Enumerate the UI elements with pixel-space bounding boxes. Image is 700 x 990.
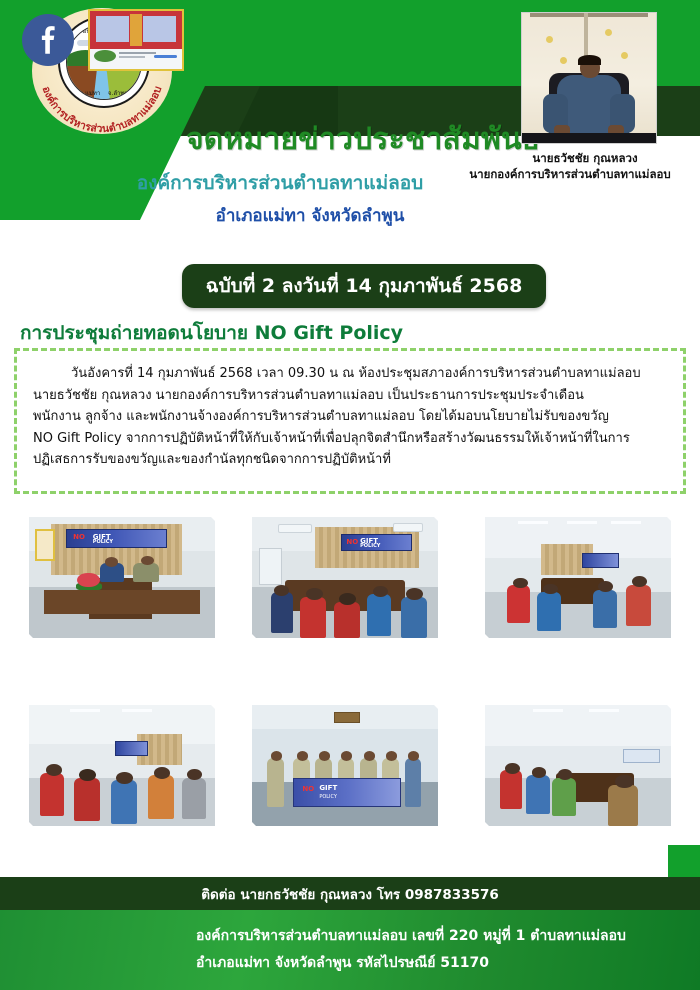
flower-arrangement bbox=[77, 573, 99, 588]
photo-image: NO GIFT POLICY bbox=[252, 517, 438, 638]
person-seated bbox=[271, 592, 293, 633]
header-subtitle-location: อำเภอแม่ทา จังหวัดลำพูน bbox=[0, 202, 620, 229]
person-head bbox=[141, 556, 154, 566]
footer-address-band bbox=[0, 910, 700, 990]
person-seated bbox=[507, 585, 529, 624]
footer-contact-bar: ติดต่อ นายกธวัชชัย กุณหลวง โทร 098783357… bbox=[0, 877, 700, 910]
room-doorway bbox=[259, 548, 281, 584]
portrait-person-hair bbox=[578, 55, 601, 65]
body-line-4: NO Gift Policy จากการปฏิบัติหน้าที่ให้กั… bbox=[33, 428, 667, 450]
person-head bbox=[513, 578, 528, 589]
banner-no-text: NO bbox=[73, 533, 85, 541]
person-head bbox=[408, 751, 419, 761]
photo-image bbox=[485, 705, 671, 826]
body-line-5: ปฏิเสธการรับของขวัญและของกำนัลทุกชนิดจาก… bbox=[33, 449, 667, 471]
person-seated bbox=[182, 778, 206, 819]
thumbnail-page-name-line bbox=[119, 52, 156, 54]
person-seated bbox=[526, 775, 550, 814]
executive-portrait-photo bbox=[521, 12, 657, 144]
logo-inner-left: อ.แม่ทา bbox=[80, 90, 101, 97]
ceiling-light bbox=[70, 709, 100, 713]
person-head bbox=[632, 576, 647, 587]
projector-screen bbox=[115, 741, 148, 756]
body-line-1: วันอังคารที่ 14 กุมภาพันธ์ 2568 เวลา 09.… bbox=[33, 363, 667, 385]
air-conditioner-icon bbox=[278, 524, 311, 532]
person-seated bbox=[552, 778, 576, 817]
thumbnail-banner-right bbox=[143, 16, 176, 43]
person-seated bbox=[608, 785, 638, 826]
gallery-photo[interactable] bbox=[478, 698, 678, 833]
person-seated bbox=[74, 778, 100, 822]
banner-no-text: NO bbox=[346, 538, 358, 546]
no-gift-policy-banner: NO GIFT POLICY bbox=[293, 778, 401, 807]
banner-no-text: NO bbox=[302, 785, 314, 793]
wall-poster bbox=[623, 749, 660, 764]
body-line-2: นายธวัชชัย กุณหลวง นายกองค์การบริหารส่วน… bbox=[33, 385, 667, 407]
room-table bbox=[44, 590, 200, 614]
person-head bbox=[341, 751, 352, 761]
ceiling-light bbox=[611, 521, 641, 525]
wall-plaque bbox=[334, 712, 360, 723]
facebook-page-thumbnail[interactable] bbox=[88, 9, 184, 71]
thumbnail-cover-image bbox=[90, 11, 182, 49]
person-seated bbox=[300, 597, 326, 638]
article-headline: การประชุมถ่ายทอดนโยบาย NO Gift Policy bbox=[20, 318, 403, 348]
gallery-photo[interactable]: NO GIFT POLICY bbox=[245, 510, 445, 645]
ceiling-light bbox=[122, 709, 152, 713]
thumbnail-follow-button[interactable] bbox=[154, 55, 178, 58]
person-seated bbox=[111, 780, 137, 824]
person-seated bbox=[500, 770, 522, 809]
thumbnail-profile-row bbox=[90, 49, 182, 69]
photo-image bbox=[29, 705, 215, 826]
gallery-photo[interactable] bbox=[478, 510, 678, 645]
person-head bbox=[116, 772, 133, 784]
portrait-foliage bbox=[605, 29, 612, 36]
person-standing bbox=[267, 758, 284, 806]
portrait-window-bar bbox=[530, 13, 648, 17]
photo-gallery: NO GIFT POLICY bbox=[0, 500, 700, 880]
banner-policy-text: POLICY bbox=[360, 543, 380, 549]
footer-contact-text: ติดต่อ นายกธวัชชัย กุณหลวง โทร 098783357… bbox=[0, 883, 700, 905]
royal-portrait-frame bbox=[35, 529, 55, 560]
air-conditioner-icon bbox=[393, 523, 423, 531]
no-gift-policy-banner: NO GIFT POLICY bbox=[341, 534, 412, 551]
projector-screen bbox=[582, 553, 619, 568]
photo-image: NO GIFT POLICY bbox=[29, 517, 215, 638]
person-head bbox=[386, 751, 397, 761]
thumbnail-center-emblem bbox=[130, 14, 141, 46]
portrait-caption-role: นายกองค์การบริหารส่วนตำบลทาแม่ลอบ bbox=[440, 166, 700, 184]
issue-banner: ฉบับที่ 2 ลงวันที่ 14 กุมภาพันธ์ 2568 bbox=[182, 264, 546, 308]
gallery-photo[interactable]: NO GIFT POLICY bbox=[245, 698, 445, 833]
gallery-photo[interactable]: NO GIFT POLICY bbox=[22, 510, 222, 645]
banner-policy-text: POLICY bbox=[319, 794, 337, 800]
ceiling-light bbox=[567, 521, 597, 525]
facebook-icon[interactable] bbox=[22, 14, 74, 66]
portrait-foliage bbox=[560, 57, 567, 64]
thumbnail-banner-left bbox=[96, 16, 129, 43]
person-seated bbox=[133, 563, 159, 582]
issue-banner-text: ฉบับที่ 2 ลงวันที่ 14 กุมภาพันธ์ 2568 bbox=[206, 271, 523, 301]
portrait-desk bbox=[522, 133, 656, 143]
person-head bbox=[154, 767, 171, 779]
person-seated bbox=[626, 585, 650, 626]
ceiling-light bbox=[518, 521, 548, 525]
person-seated bbox=[334, 602, 360, 638]
newsletter-page: อบต.ทาแม่ลอบ อ.แม่ทา จ.ลำพูน องค์การบริห… bbox=[0, 0, 700, 990]
ceiling-light bbox=[533, 709, 563, 713]
logo-inner-right: จ.ลำพูน bbox=[108, 90, 129, 97]
person-head bbox=[187, 769, 202, 780]
person-seated bbox=[367, 594, 391, 635]
banner-gift-text: GIFT bbox=[319, 784, 337, 792]
person-seated bbox=[401, 597, 427, 638]
article-body-box: วันอังคารที่ 14 กุมภาพันธ์ 2568 เวลา 09.… bbox=[14, 348, 686, 494]
thumbnail-page-meta-line bbox=[119, 56, 145, 58]
person-seated bbox=[148, 775, 174, 819]
person-head bbox=[373, 586, 388, 597]
photo-image bbox=[485, 517, 671, 638]
person-head bbox=[364, 751, 375, 761]
person-head bbox=[271, 751, 282, 761]
person-standing bbox=[405, 758, 422, 806]
footer-address-line-1: องค์การบริหารส่วนตำบลทาแม่ลอบ เลขที่ 220… bbox=[196, 925, 696, 947]
person-seated bbox=[593, 590, 617, 629]
ceiling-light bbox=[589, 709, 619, 713]
person-head bbox=[543, 584, 558, 595]
body-line-3: พนักงาน ลูกจ้าง และพนักงานจ้างองค์การบริ… bbox=[33, 406, 667, 428]
person-head bbox=[105, 557, 118, 567]
no-gift-policy-banner: NO GIFT POLICY bbox=[66, 529, 166, 548]
person-head bbox=[274, 585, 289, 596]
thumbnail-avatar bbox=[94, 50, 116, 62]
footer-address-line-2: อำเภอแม่ทา จังหวัดลำพูน รหัสไปรษณีย์ 511… bbox=[196, 952, 696, 974]
banner-policy-text: POLICY bbox=[93, 539, 113, 545]
person-seated bbox=[40, 773, 64, 817]
person-head bbox=[532, 767, 547, 778]
logo-inner-location-text: อ.แม่ทา จ.ลำพูน bbox=[67, 88, 141, 98]
gallery-photo[interactable] bbox=[22, 698, 222, 833]
person-seated bbox=[537, 592, 561, 631]
person-head bbox=[319, 751, 330, 761]
person-head bbox=[297, 751, 308, 761]
photo-image: NO GIFT POLICY bbox=[252, 705, 438, 826]
